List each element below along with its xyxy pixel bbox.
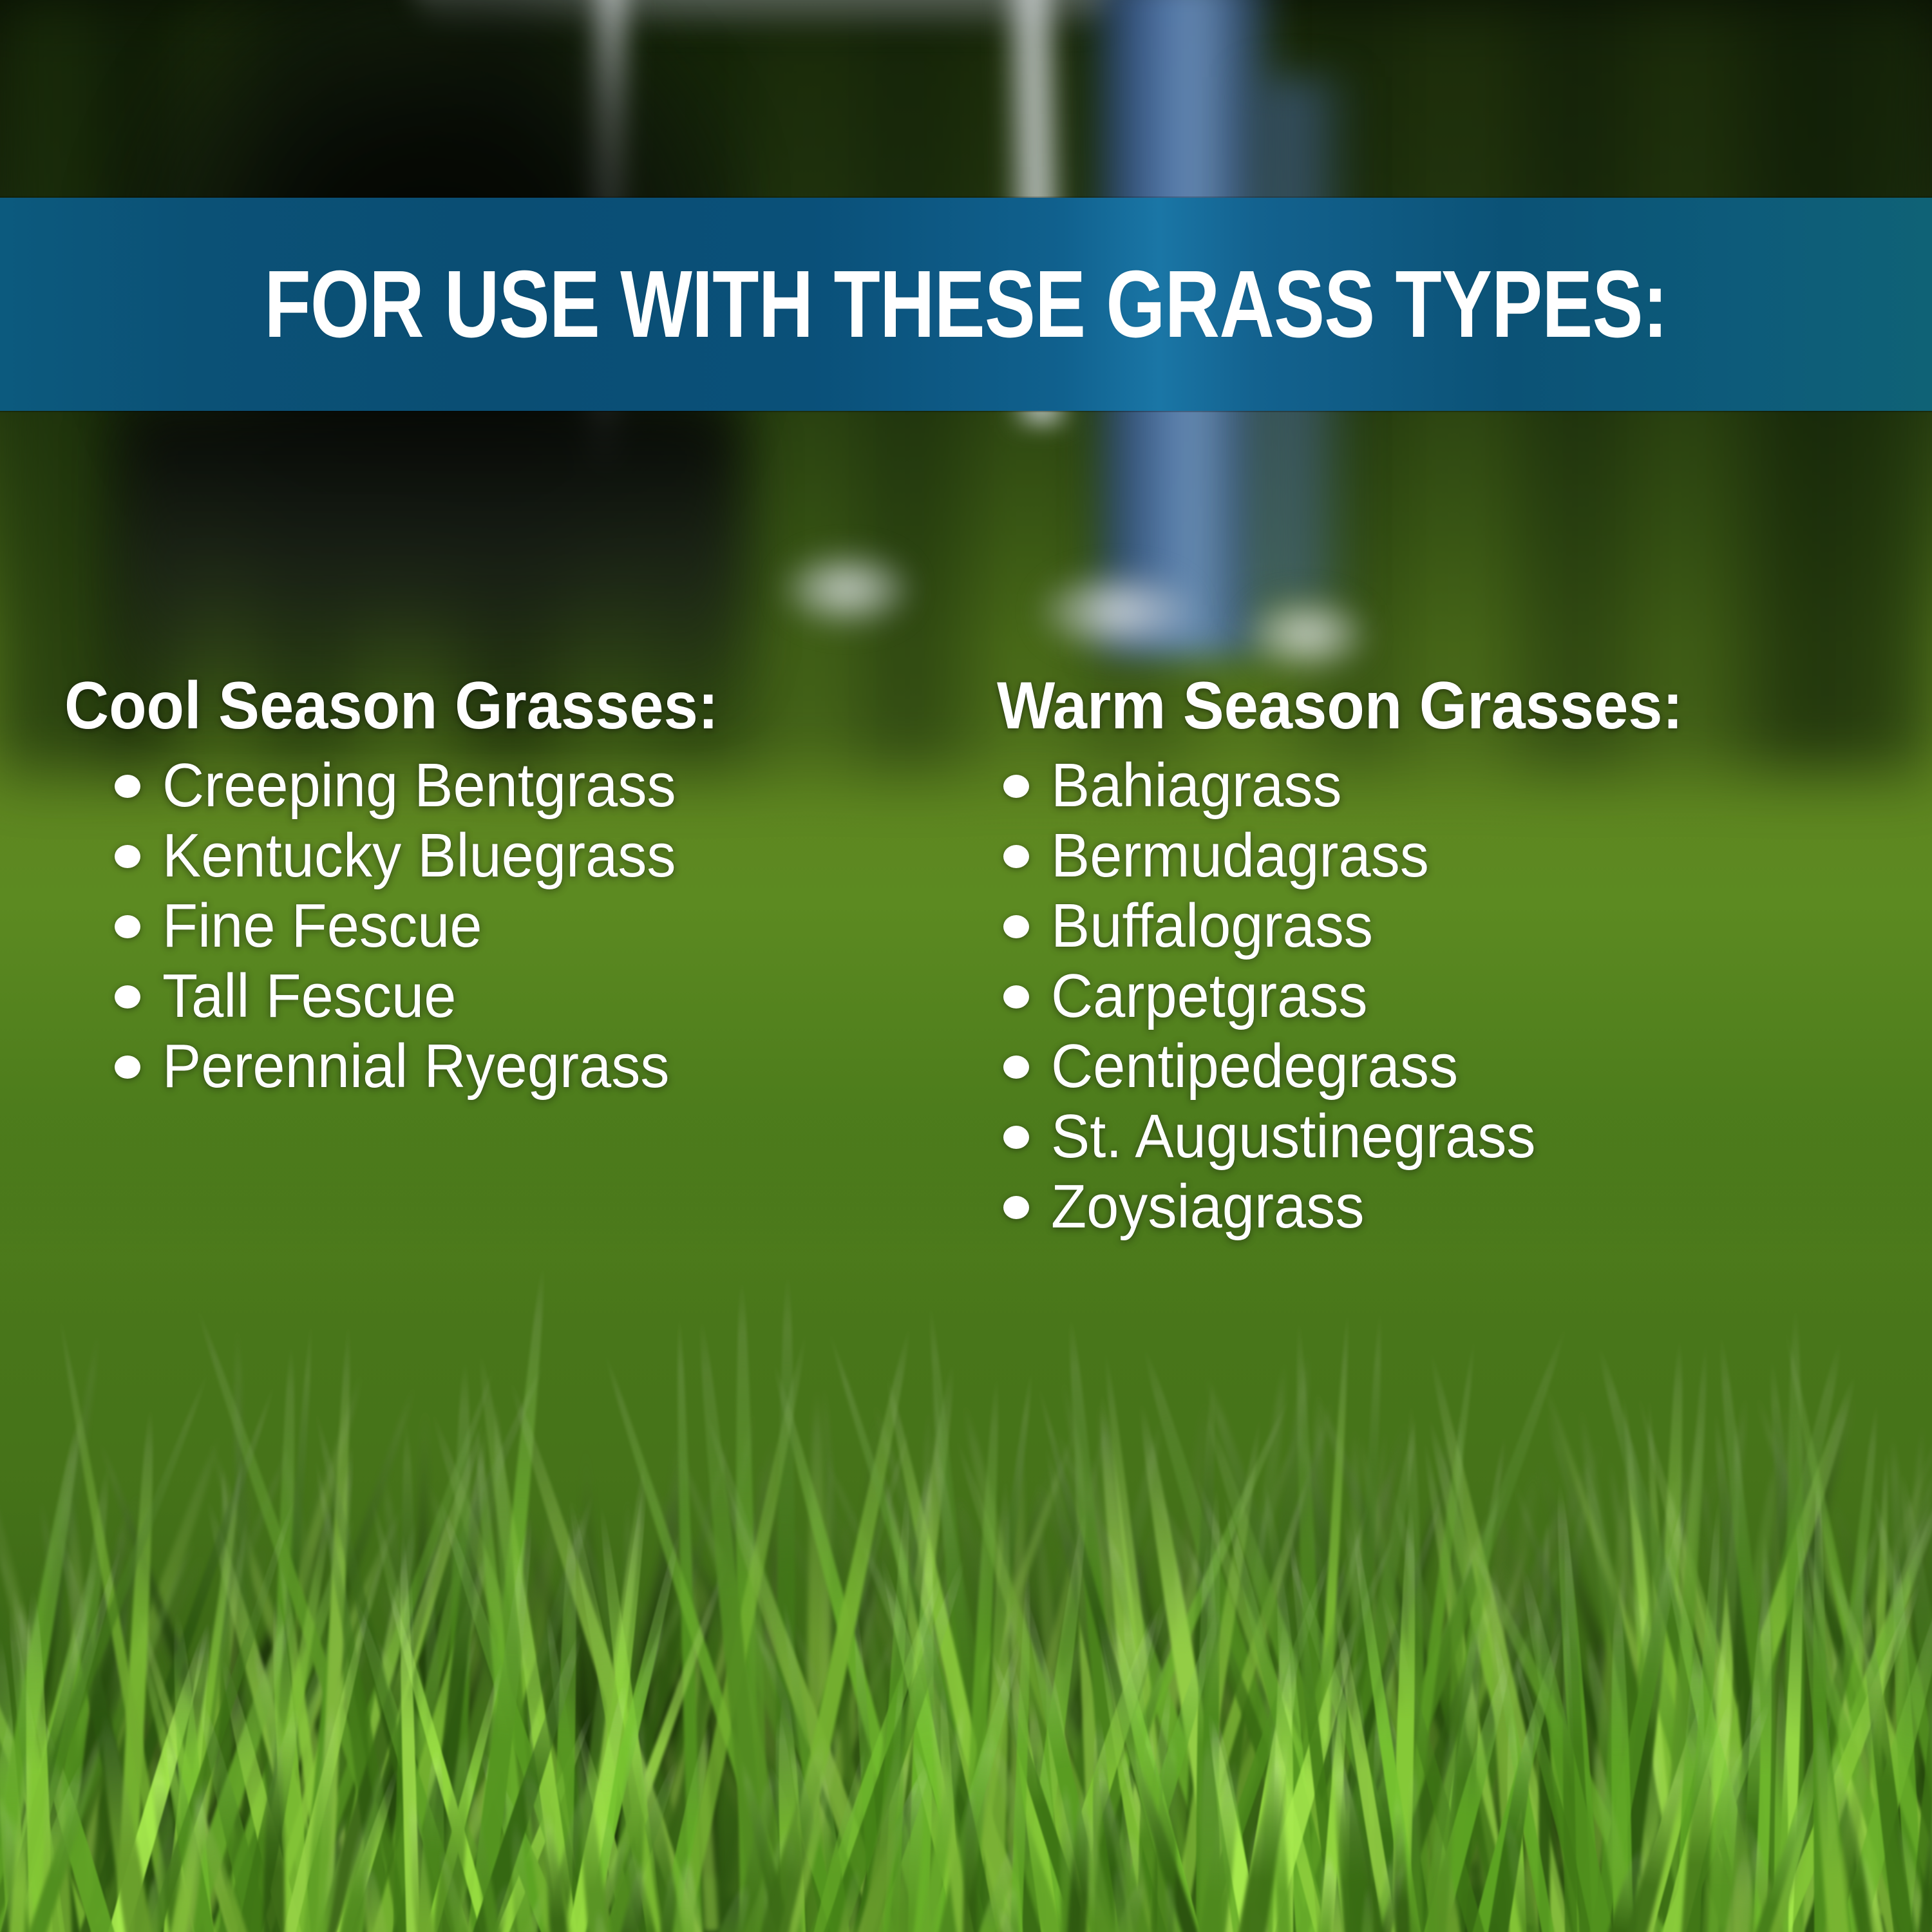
warm-season-list: Bahiagrass Bermudagrass Buffalograss Car… — [997, 751, 1932, 1242]
list-item-label: Centipedegrass — [1051, 1032, 1458, 1102]
warm-season-column: Warm Season Grasses: Bahiagrass Bermudag… — [992, 670, 1932, 1242]
list-item-label: Creeping Bentgrass — [162, 751, 676, 821]
list-item: Perennial Ryegrass — [115, 1032, 992, 1102]
bullet-icon — [115, 985, 140, 1009]
list-item: Buffalograss — [1003, 891, 1932, 961]
bullet-icon — [1003, 1056, 1029, 1079]
warm-season-heading: Warm Season Grasses: — [997, 670, 1857, 742]
list-item-label: Fine Fescue — [162, 891, 482, 961]
list-item-label: Bahiagrass — [1051, 751, 1341, 821]
list-item-label: Buffalograss — [1051, 891, 1373, 961]
bullet-icon — [1003, 1196, 1029, 1219]
cool-season-list: Creeping Bentgrass Kentucky Bluegrass Fi… — [64, 751, 992, 1102]
mower-deck — [122, 399, 741, 696]
bullet-icon — [1003, 1126, 1029, 1149]
list-item: Centipedegrass — [1003, 1032, 1932, 1102]
list-item-label: Zoysiagrass — [1051, 1172, 1364, 1242]
list-item-label: Kentucky Bluegrass — [162, 821, 676, 891]
list-item: Tall Fescue — [115, 961, 992, 1032]
page-title: FOR USE WITH THESE GRASS TYPES: — [265, 257, 1668, 352]
bullet-icon — [115, 1056, 140, 1079]
list-item-label: Bermudagrass — [1051, 821, 1429, 891]
person-shoe-right — [1043, 573, 1191, 650]
list-item: Bahiagrass — [1003, 751, 1932, 821]
list-item-label: Carpetgrass — [1051, 961, 1368, 1032]
list-item-label: Perennial Ryegrass — [162, 1032, 669, 1102]
bullet-icon — [1003, 915, 1029, 938]
list-item: Zoysiagrass — [1003, 1172, 1932, 1242]
list-item: Carpetgrass — [1003, 961, 1932, 1032]
bullet-icon — [1003, 985, 1029, 1009]
list-item: Creeping Bentgrass — [115, 751, 992, 821]
cool-season-column: Cool Season Grasses: Creeping Bentgrass … — [0, 670, 992, 1242]
list-item-label: St. Augustinegrass — [1051, 1102, 1535, 1172]
list-item: Kentucky Bluegrass — [115, 821, 992, 891]
infographic-canvas: FOR USE WITH THESE GRASS TYPES: Cool Sea… — [0, 0, 1932, 1932]
grass-type-columns: Cool Season Grasses: Creeping Bentgrass … — [0, 670, 1932, 1242]
banner: FOR USE WITH THESE GRASS TYPES: — [0, 198, 1932, 411]
bullet-icon — [1003, 775, 1029, 798]
bullet-icon — [115, 845, 140, 868]
bullet-icon — [1003, 845, 1029, 868]
person-shoe-highlight — [1249, 599, 1365, 670]
bullet-icon — [115, 915, 140, 938]
list-item-label: Tall Fescue — [162, 961, 456, 1032]
cool-season-heading: Cool Season Grasses: — [64, 670, 918, 742]
person-shoe-left — [786, 554, 908, 625]
list-item: Bermudagrass — [1003, 821, 1932, 891]
list-item: Fine Fescue — [115, 891, 992, 961]
bullet-icon — [115, 775, 140, 798]
list-item: St. Augustinegrass — [1003, 1102, 1932, 1172]
